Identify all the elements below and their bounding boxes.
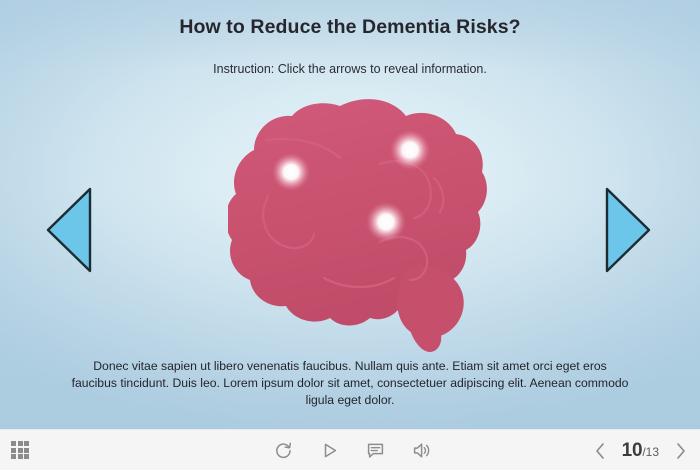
grid-cell	[11, 441, 16, 446]
triangle-right-icon	[605, 186, 651, 274]
player-toolbar: 10 /13	[0, 429, 700, 470]
next-arrow[interactable]	[605, 186, 651, 274]
play-button[interactable]	[318, 440, 340, 462]
media-controls	[272, 430, 432, 470]
slide-root: How to Reduce the Dementia Risks? Instru…	[0, 0, 700, 470]
captions-icon	[366, 441, 385, 460]
body-paragraph: Donec vitae sapien ut libero venenatis f…	[70, 358, 630, 408]
triangle-left-icon	[46, 186, 92, 274]
brain-body	[228, 99, 487, 352]
instruction-text: Instruction: Click the arrows to reveal …	[0, 62, 700, 76]
previous-arrow[interactable]	[46, 186, 92, 274]
pager: 10 /13	[593, 430, 688, 470]
grid-cell	[18, 448, 23, 453]
volume-button[interactable]	[410, 440, 432, 462]
page-current: 10	[622, 440, 643, 462]
grid-cell	[24, 441, 29, 446]
grid-cell	[11, 454, 16, 459]
pager-next-button[interactable]	[672, 440, 688, 462]
replay-button[interactable]	[272, 440, 294, 462]
volume-icon	[412, 441, 431, 460]
captions-button[interactable]	[364, 440, 386, 462]
slide-stage: How to Reduce the Dementia Risks? Instru…	[0, 0, 700, 429]
page-total: /13	[642, 445, 659, 459]
play-icon	[320, 441, 339, 460]
grid-cell	[24, 448, 29, 453]
pager-previous-button[interactable]	[593, 440, 609, 462]
grid-cell	[24, 454, 29, 459]
brain-illustration	[228, 92, 492, 354]
page-counter: 10 /13	[622, 440, 659, 462]
chevron-left-icon	[595, 442, 606, 460]
page-title: How to Reduce the Dementia Risks?	[0, 16, 700, 39]
brain-svg	[228, 92, 492, 354]
grid-menu-icon[interactable]	[11, 441, 31, 461]
grid-cell	[18, 441, 23, 446]
grid-cell	[11, 448, 16, 453]
replay-icon	[274, 441, 293, 460]
grid-cell	[18, 454, 23, 459]
chevron-right-icon	[675, 442, 686, 460]
